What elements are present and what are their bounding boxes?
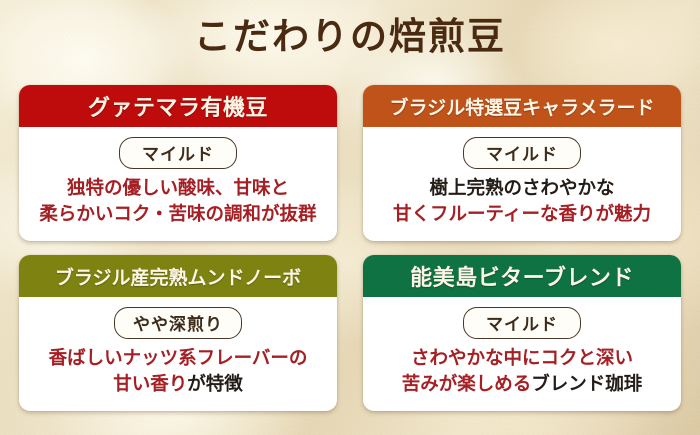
card-header-guatemala: グァテマラ有機豆 xyxy=(19,85,337,127)
card-description-brazil-mundonovo: 香ばしいナッツ系フレーバーの 甘い香りが特徴 xyxy=(43,346,314,399)
desc-red: 独特の優しい酸味、甘味と xyxy=(67,178,289,199)
desc-dark: ブレンド珈琲 xyxy=(531,374,642,395)
desc-line-2: 苦みが楽しめるブレンド珈琲 xyxy=(402,372,643,398)
desc-red: 甘くフルーティーな香りが魅力 xyxy=(393,204,651,225)
desc-line-2: 甘い香りが特徴 xyxy=(49,372,308,398)
poster-stage: こだわりの焙煎豆 グァテマラ有機豆 マイルド 独特の優しい酸味、甘味と 柔らかい… xyxy=(0,0,700,435)
coffee-card-brazil-mundonovo[interactable]: ブラジル産完熟ムンドノーボ やや深煎り 香ばしいナッツ系フレーバーの 甘い香りが… xyxy=(19,255,337,411)
desc-red: さわやかな中にコクと深い xyxy=(411,348,633,369)
desc-line-1: 香ばしいナッツ系フレーバーの xyxy=(49,346,308,372)
card-header-nomijima-bitter: 能美島ビターブレンド xyxy=(363,255,681,297)
desc-line-1: 樹上完熟のさわやかな xyxy=(393,176,651,202)
desc-red: 香ばしいナッツ系フレーバーの xyxy=(49,348,308,369)
desc-red: 甘い香り xyxy=(113,374,187,395)
card-description-guatemala: 独特の優しい酸味、甘味と 柔らかいコク・苦味の調和が抜群 xyxy=(33,176,322,229)
coffee-card-grid: グァテマラ有機豆 マイルド 独特の優しい酸味、甘味と 柔らかいコク・苦味の調和が… xyxy=(19,85,681,420)
desc-red: 苦みが楽しめる xyxy=(402,374,532,395)
roast-badge-brazil-mundonovo: やや深煎り xyxy=(114,307,242,339)
roast-badge-brazil-caramelado: マイルド xyxy=(463,137,581,169)
desc-dark: 樹上完熟のさわやかな xyxy=(429,178,614,199)
coffee-card-nomijima-bitter[interactable]: 能美島ビターブレンド マイルド さわやかな中にコクと深い 苦みが楽しめるブレンド… xyxy=(363,255,681,411)
card-description-nomijima-bitter: さわやかな中にコクと深い 苦みが楽しめるブレンド珈琲 xyxy=(396,346,649,399)
coffee-card-guatemala[interactable]: グァテマラ有機豆 マイルド 独特の優しい酸味、甘味と 柔らかいコク・苦味の調和が… xyxy=(19,85,337,241)
desc-dark: が特徴 xyxy=(187,374,243,395)
coffee-card-brazil-caramelado[interactable]: ブラジル特選豆キャラメラード マイルド 樹上完熟のさわやかな 甘くフルーティーな… xyxy=(363,85,681,241)
page-title: こだわりの焙煎豆 xyxy=(0,12,700,60)
card-header-brazil-caramelado: ブラジル特選豆キャラメラード xyxy=(363,85,681,127)
desc-line-1: 独特の優しい酸味、甘味と xyxy=(39,176,316,202)
roast-badge-guatemala: マイルド xyxy=(119,137,237,169)
desc-red: 柔らかいコク・苦味の調和が抜群 xyxy=(39,204,316,225)
desc-line-1: さわやかな中にコクと深い xyxy=(402,346,643,372)
card-description-brazil-caramelado: 樹上完熟のさわやかな 甘くフルーティーな香りが魅力 xyxy=(387,176,657,229)
desc-line-2: 柔らかいコク・苦味の調和が抜群 xyxy=(39,202,316,228)
card-header-brazil-mundonovo: ブラジル産完熟ムンドノーボ xyxy=(19,255,337,297)
roast-badge-nomijima-bitter: マイルド xyxy=(463,307,581,339)
desc-line-2: 甘くフルーティーな香りが魅力 xyxy=(393,202,651,228)
